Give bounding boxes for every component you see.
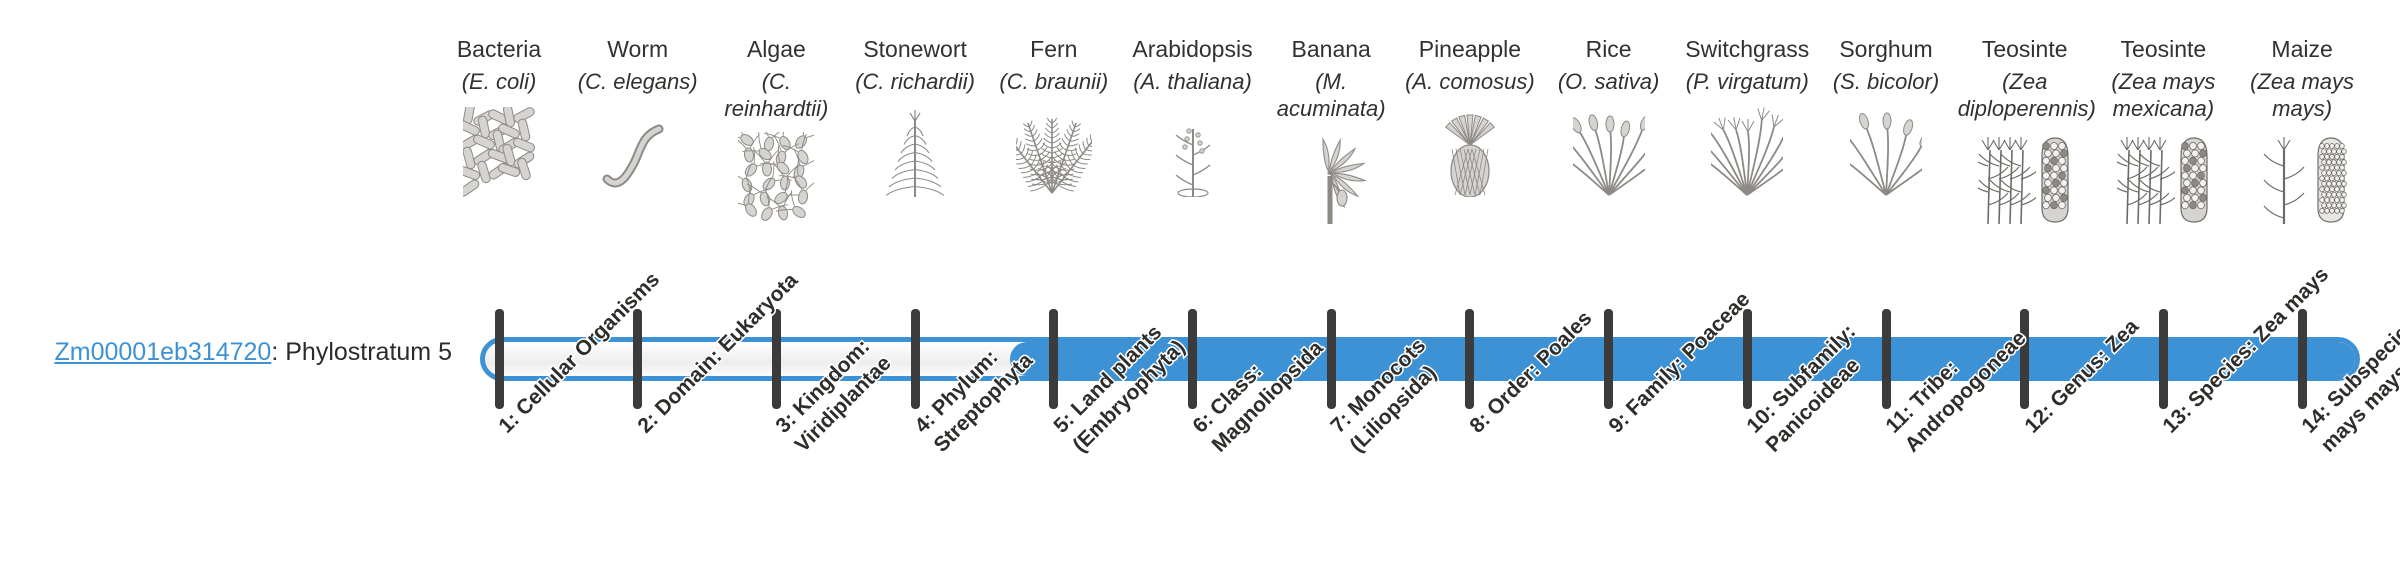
species-latin-name: (O. sativa) (1540, 68, 1678, 95)
species-latin-name: (S. bicolor) (1817, 68, 1955, 95)
gene-phylostratum-value: Phylostratum 5 (285, 338, 452, 366)
teosinte-diplo-icon (1956, 128, 2094, 224)
stratum-tick (2159, 309, 2168, 409)
species-common-name: Maize (2233, 34, 2371, 64)
species-column: Sorghum(S. bicolor) (1817, 34, 1955, 197)
species-latin-name: (C. braunii) (985, 68, 1123, 95)
species-latin-name: (Zea mays mexicana) (2094, 68, 2232, 122)
algae-icon (707, 128, 845, 224)
species-common-name: Fern (985, 34, 1123, 64)
species-column: Teosinte(Zea mays mexicana) (2094, 34, 2232, 224)
banana-icon (1262, 128, 1400, 224)
gene-phylostratum-label: Zm00001eb314720: Phylostratum 5 (0, 337, 452, 367)
species-common-name: Pineapple (1401, 34, 1539, 64)
species-latin-name: (Zea diploperennis) (1956, 68, 2094, 122)
maize-icon (2233, 128, 2371, 224)
species-common-name: Bacteria (430, 34, 568, 64)
species-column: Banana(M. acuminata) (1262, 34, 1400, 224)
teosinte-mex-icon (2094, 128, 2232, 224)
pineapple-icon (1401, 101, 1539, 197)
stratum-tick (495, 309, 504, 409)
rice-icon (1540, 101, 1678, 197)
species-column: Arabidopsis(A. thaliana) (1124, 34, 1262, 197)
gene-separator: : (271, 338, 285, 366)
species-column: Fern(C. braunii) (985, 34, 1123, 197)
species-common-name: Teosinte (1956, 34, 2094, 64)
stratum-tick (1743, 309, 1752, 409)
species-common-name: Banana (1262, 34, 1400, 64)
sorghum-icon (1817, 101, 1955, 197)
species-common-name: Worm (569, 34, 707, 64)
species-common-name: Stonewort (846, 34, 984, 64)
stratum-tick (2298, 309, 2307, 409)
species-latin-name: (M. acuminata) (1262, 68, 1400, 122)
species-column: Pineapple(A. comosus) (1401, 34, 1539, 197)
species-common-name: Teosinte (2094, 34, 2232, 64)
species-column: Switchgrass(P. virgatum) (1678, 34, 1816, 197)
stratum-number: 2: (633, 408, 662, 437)
species-column: Algae(C. reinhardtii) (707, 34, 845, 224)
species-common-name: Algae (707, 34, 845, 64)
gene-id-link[interactable]: Zm00001eb314720 (54, 338, 271, 366)
stratum-number: 1: (494, 408, 523, 437)
species-common-name: Arabidopsis (1124, 34, 1262, 64)
species-latin-name: (Zea mays mays) (2233, 68, 2371, 122)
stonewort-icon (846, 101, 984, 197)
species-column: Rice(O. sativa) (1540, 34, 1678, 197)
species-latin-name: (C. elegans) (569, 68, 707, 95)
stratum-tick (772, 309, 781, 409)
species-latin-name: (A. comosus) (1401, 68, 1539, 95)
stratum-tick (633, 309, 642, 409)
species-latin-name: (C. reinhardtii) (707, 68, 845, 122)
species-latin-name: (P. virgatum) (1678, 68, 1816, 95)
worm-icon (569, 101, 707, 197)
species-latin-name: (A. thaliana) (1124, 68, 1262, 95)
species-column: Maize(Zea mays mays) (2233, 34, 2371, 224)
stratum-tick (1604, 309, 1613, 409)
stratum-number: 9: (1604, 408, 1633, 437)
species-column: Bacteria(E. coli) (430, 34, 568, 197)
species-column: Teosinte(Zea diploperennis) (1956, 34, 2094, 224)
species-latin-name: (C. richardii) (846, 68, 984, 95)
stratum-number: 8: (1465, 408, 1494, 437)
switchgrass-icon (1678, 101, 1816, 197)
arabidopsis-icon (1124, 101, 1262, 197)
bacteria-icon (430, 101, 568, 197)
fern-icon (985, 101, 1123, 197)
species-common-name: Sorghum (1817, 34, 1955, 64)
species-column: Worm(C. elegans) (569, 34, 707, 197)
species-column: Stonewort(C. richardii) (846, 34, 984, 197)
phylostratum-figure: Zm00001eb314720: Phylostratum 5 Bacteria… (0, 0, 2400, 580)
species-common-name: Switchgrass (1678, 34, 1816, 64)
species-latin-name: (E. coli) (430, 68, 568, 95)
species-common-name: Rice (1540, 34, 1678, 64)
